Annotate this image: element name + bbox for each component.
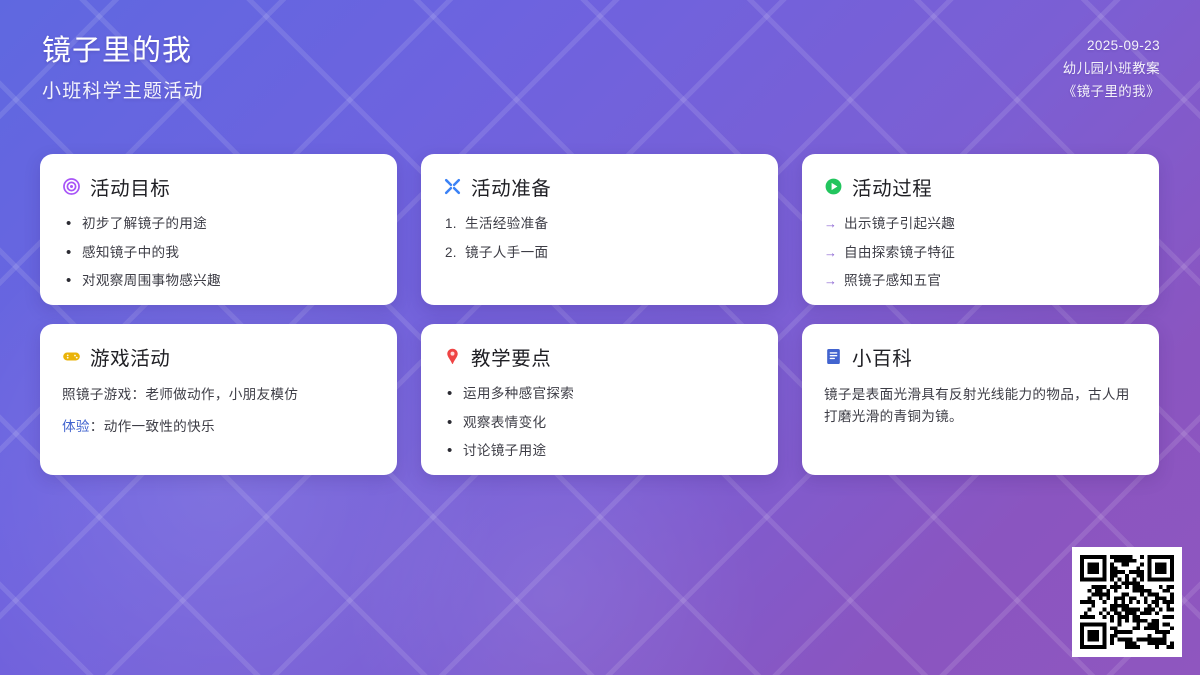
card-game: 游戏活动照镜子游戏：老师做动作，小朋友模仿体验：动作一致性的快乐 (40, 324, 397, 475)
page-subtitle: 小班科学主题活动 (42, 81, 204, 103)
page-title: 镜子里的我 (42, 34, 204, 68)
line-separator: ： (90, 419, 104, 434)
card-tagged-line: 体验：动作一致性的快乐 (62, 416, 375, 438)
list-item: 对观察周围事物感兴趣 (62, 271, 375, 292)
card-title: 活动目标 (90, 172, 170, 201)
card-header: 活动目标 (62, 172, 375, 201)
list-item: 运用多种感官探索 (443, 384, 756, 405)
card-title: 活动过程 (852, 172, 932, 201)
target-icon (62, 177, 81, 196)
meta-doc-name: 《镜子里的我》 (1063, 80, 1160, 103)
card-title: 游戏活动 (90, 342, 170, 371)
list-item: 初步了解镜子的用途 (62, 214, 375, 235)
list-item: 感知镜子中的我 (62, 243, 375, 264)
list-item: 观察表情变化 (443, 413, 756, 434)
meta-date: 2025-09-23 (1063, 34, 1160, 57)
qr-code-image (1080, 555, 1174, 649)
card-header: 教学要点 (443, 342, 756, 371)
book-icon (824, 347, 843, 366)
card-objectives: 活动目标初步了解镜子的用途感知镜子中的我对观察周围事物感兴趣 (40, 154, 397, 305)
list-item: 镜子人手一面 (443, 243, 756, 264)
title-block: 镜子里的我 小班科学主题活动 (42, 34, 204, 104)
card-header: 活动准备 (443, 172, 756, 201)
card-title: 活动准备 (471, 172, 551, 201)
card-process: 活动过程出示镜子引起兴趣自由探索镜子特征照镜子感知五官 (802, 154, 1159, 305)
qr-code[interactable] (1072, 547, 1182, 657)
card-list: 生活经验准备镜子人手一面 (443, 214, 756, 263)
play-circle-icon (824, 177, 843, 196)
gamepad-icon (62, 347, 81, 366)
card-title: 教学要点 (471, 342, 551, 371)
card-list: 出示镜子引起兴趣自由探索镜子特征照镜子感知五官 (824, 214, 1137, 292)
card-paragraph: 镜子是表面光滑具有反射光线能力的物品，古人用打磨光滑的青铜为镜。 (824, 384, 1137, 428)
tools-icon (443, 177, 462, 196)
meta-category: 幼儿园小班教案 (1063, 57, 1160, 80)
list-item: 讨论镜子用途 (443, 441, 756, 462)
card-header: 游戏活动 (62, 342, 375, 371)
card-preparation: 活动准备生活经验准备镜子人手一面 (421, 154, 778, 305)
pin-icon (443, 347, 462, 366)
line-text: 动作一致性的快乐 (104, 419, 215, 434)
card-list: 初步了解镜子的用途感知镜子中的我对观察周围事物感兴趣 (62, 214, 375, 292)
list-item: 自由探索镜子特征 (824, 243, 1137, 264)
card-header: 活动过程 (824, 172, 1137, 201)
card-title: 小百科 (852, 342, 912, 371)
slide-header: 镜子里的我 小班科学主题活动 2025-09-23 幼儿园小班教案 《镜子里的我… (0, 0, 1200, 130)
list-item: 照镜子感知五官 (824, 271, 1137, 292)
card-paragraph: 照镜子游戏：老师做动作，小朋友模仿 (62, 384, 375, 406)
card-encyclopedia: 小百科镜子是表面光滑具有反射光线能力的物品，古人用打磨光滑的青铜为镜。 (802, 324, 1159, 475)
list-item: 出示镜子引起兴趣 (824, 214, 1137, 235)
card-header: 小百科 (824, 342, 1137, 371)
card-grid: 活动目标初步了解镜子的用途感知镜子中的我对观察周围事物感兴趣活动准备生活经验准备… (40, 154, 1160, 475)
slide-root: 镜子里的我 小班科学主题活动 2025-09-23 幼儿园小班教案 《镜子里的我… (0, 0, 1200, 675)
card-key-points: 教学要点运用多种感官探索观察表情变化讨论镜子用途 (421, 324, 778, 475)
card-list: 运用多种感官探索观察表情变化讨论镜子用途 (443, 384, 756, 462)
header-meta: 2025-09-23 幼儿园小班教案 《镜子里的我》 (1063, 34, 1160, 104)
line-tag: 体验 (62, 419, 90, 434)
list-item: 生活经验准备 (443, 214, 756, 235)
